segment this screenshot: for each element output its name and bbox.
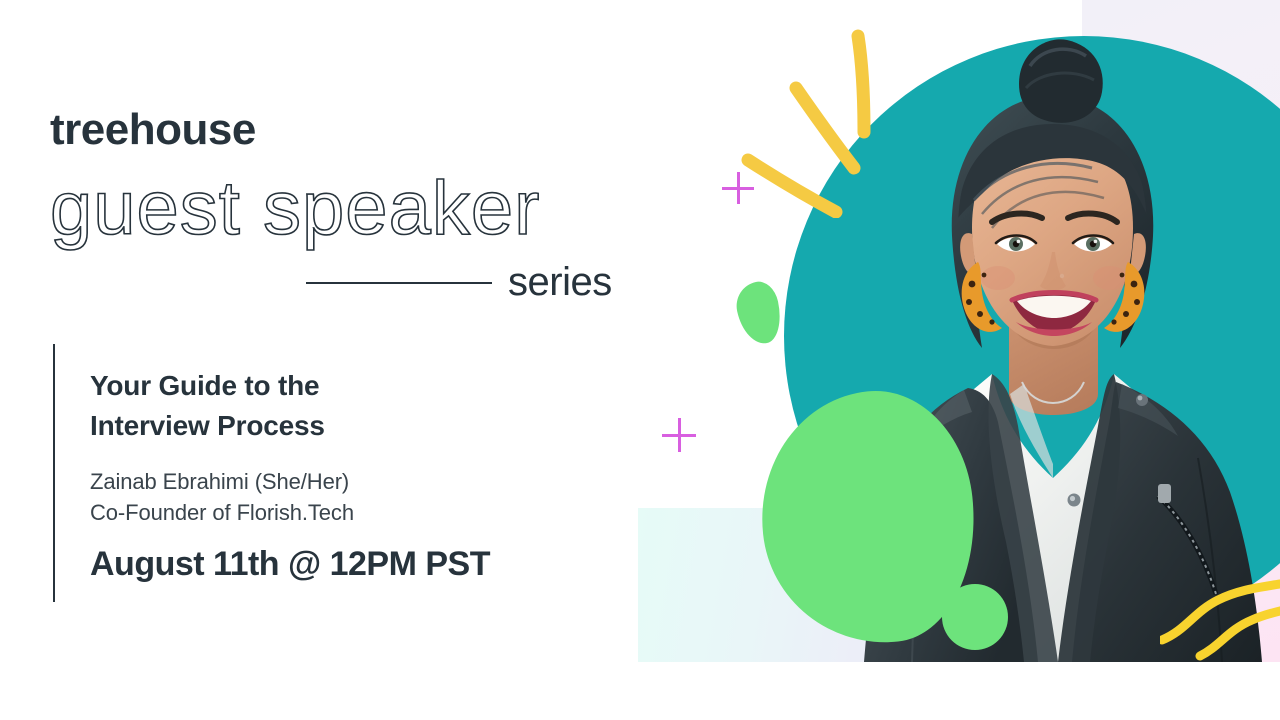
promo-slide: treehouse guest speaker series Your Guid… [0, 0, 1280, 720]
brand-wordmark: treehouse [50, 108, 256, 152]
yellow-dash-marks [740, 28, 910, 218]
headline-outline: guest speaker [34, 158, 674, 258]
session-datetime: August 11th @ 12PM PST [90, 544, 650, 585]
series-divider-rule [306, 282, 492, 284]
green-bean-blob [732, 278, 786, 347]
session-title-line-1: Your Guide to the [90, 366, 650, 406]
yellow-wave-marks [1160, 578, 1280, 674]
purple-plus-mark-bottom [662, 418, 696, 452]
speaker-name: Zainab Ebrahimi (She/Her) [90, 466, 650, 497]
purple-plus-mark-top [722, 172, 754, 204]
green-dot-blob [942, 584, 1008, 650]
info-divider-rule [53, 344, 55, 602]
series-row: series [306, 258, 646, 306]
series-label: series [508, 258, 612, 306]
plus-vertical-bar [678, 418, 681, 452]
session-info-block: Your Guide to the Interview Process Zain… [90, 366, 650, 619]
svg-text:guest speaker: guest speaker [50, 166, 540, 251]
session-title-line-2: Interview Process [90, 406, 650, 446]
plus-vertical-bar [737, 172, 740, 204]
speaker-role: Co-Founder of Florish.Tech [90, 497, 650, 528]
